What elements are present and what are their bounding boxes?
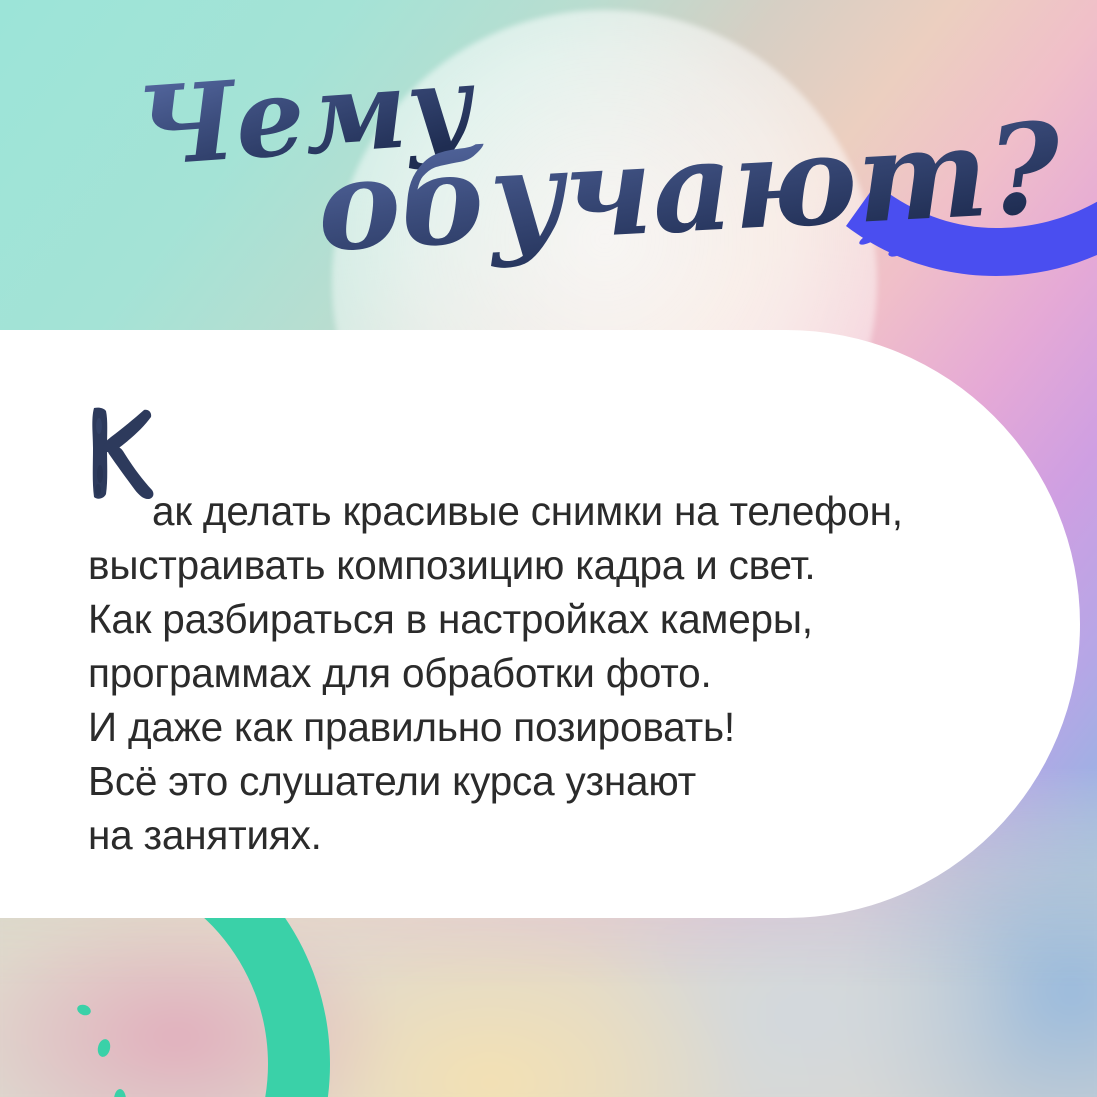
body-copy: ак делать красивые снимки на телефон,выс… — [88, 430, 1018, 916]
promo-slide: Чему обучают? ак делать красивые снимки … — [0, 0, 1097, 1097]
body-first-line: ак делать красивые снимки на телефон, — [88, 484, 1018, 538]
body-remaining-lines: выстраивать композицию кадра и свет. Как… — [88, 538, 1018, 862]
